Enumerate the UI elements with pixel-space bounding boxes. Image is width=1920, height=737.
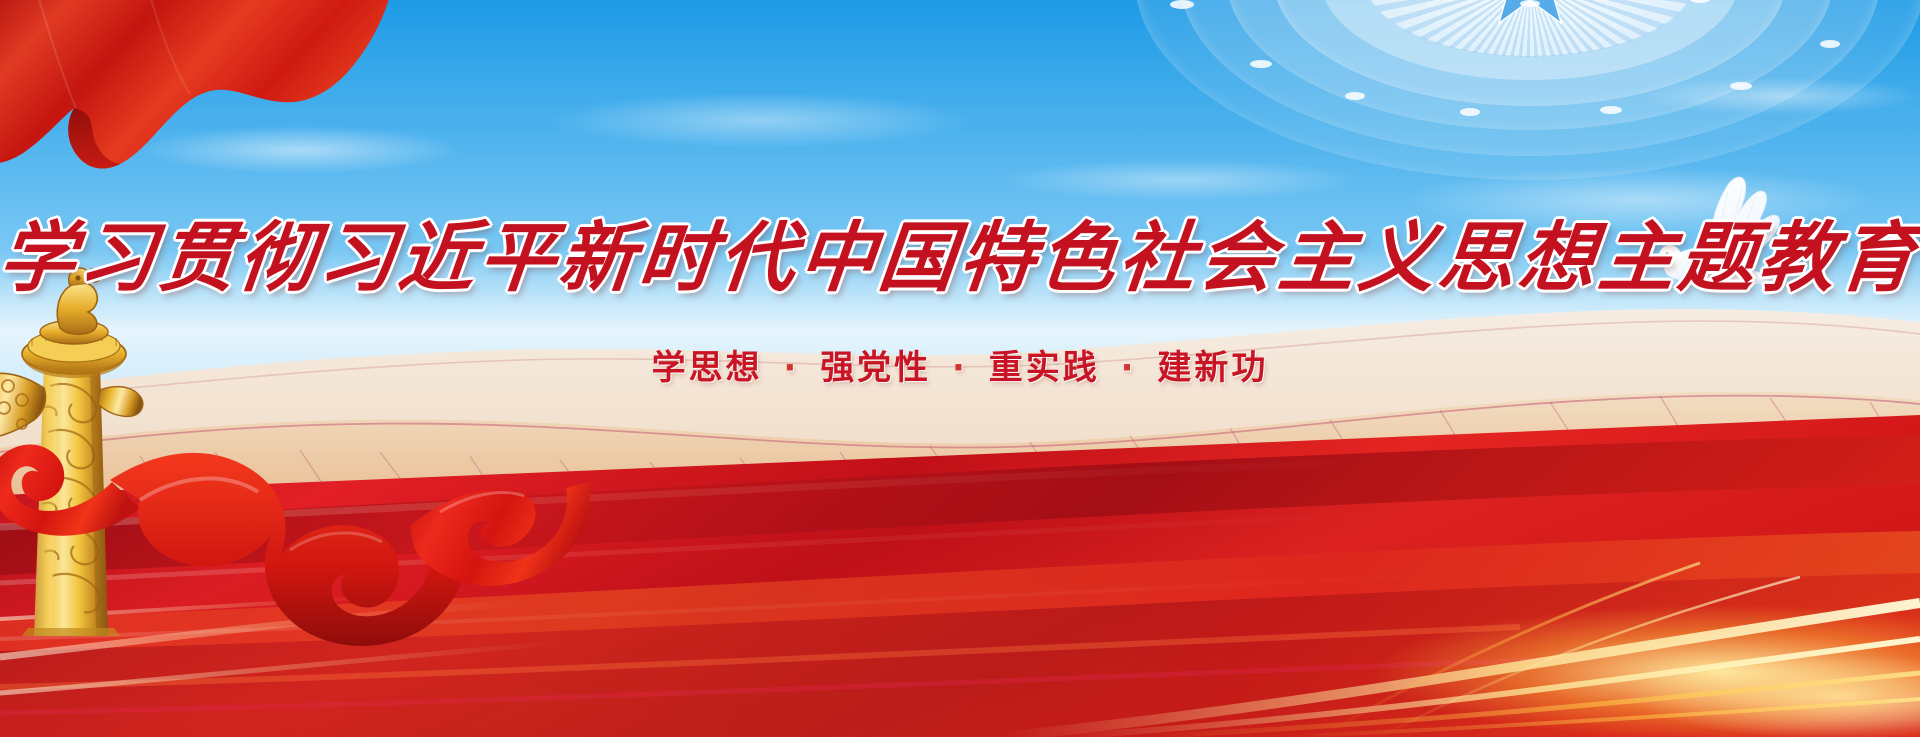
emblem-dot xyxy=(1730,82,1752,90)
subtitle-part-3: 重实践 xyxy=(989,348,1100,388)
emblem-ring-6 xyxy=(1365,0,1695,56)
subtitle: 学思想 · 强党性 · 重实践 · 建新功 xyxy=(0,340,1920,389)
emblem-ring-2 xyxy=(1180,0,1880,156)
subtitle-separator: · xyxy=(777,348,805,388)
red-flag xyxy=(0,0,410,186)
propaganda-banner: 学习贯彻习近平新时代中国特色社会主义思想主题教育 学思想 · 强党性 · 重实践… xyxy=(0,0,1920,737)
ribbon-tail xyxy=(410,482,590,586)
ribbon-left-loop xyxy=(0,444,140,535)
subtitle-separator: · xyxy=(1115,348,1143,388)
emblem-ring-3 xyxy=(1227,0,1833,130)
ribbon-main-band xyxy=(110,453,467,646)
emblem-dot xyxy=(1600,106,1622,114)
emblem-dot xyxy=(1460,108,1480,116)
page-title: 学习贯彻习近平新时代中国特色社会主义思想主题教育 xyxy=(0,196,1920,306)
red-silk-ribbon xyxy=(0,430,590,650)
subtitle-part-1: 学思想 xyxy=(652,348,763,388)
emblem-ring-4 xyxy=(1274,0,1786,106)
emblem-rays xyxy=(1365,0,1695,57)
five-pointed-star-icon xyxy=(1470,0,1590,38)
emblem-dot xyxy=(1345,92,1365,100)
emblem-dot xyxy=(1250,60,1272,68)
emblem-dot xyxy=(1170,0,1194,9)
subtitle-part-2: 强党性 xyxy=(820,348,931,388)
huabiao-cloud-board-right xyxy=(98,387,143,417)
emblem-dot xyxy=(1690,0,1710,3)
emblem-dot xyxy=(1520,0,1540,7)
emblem-dot xyxy=(1820,40,1840,48)
subtitle-separator: · xyxy=(946,348,974,388)
subtitle-part-4: 建新功 xyxy=(1157,348,1268,388)
emblem-ring-5 xyxy=(1321,0,1739,80)
emblem-ring-1 xyxy=(1135,0,1920,180)
